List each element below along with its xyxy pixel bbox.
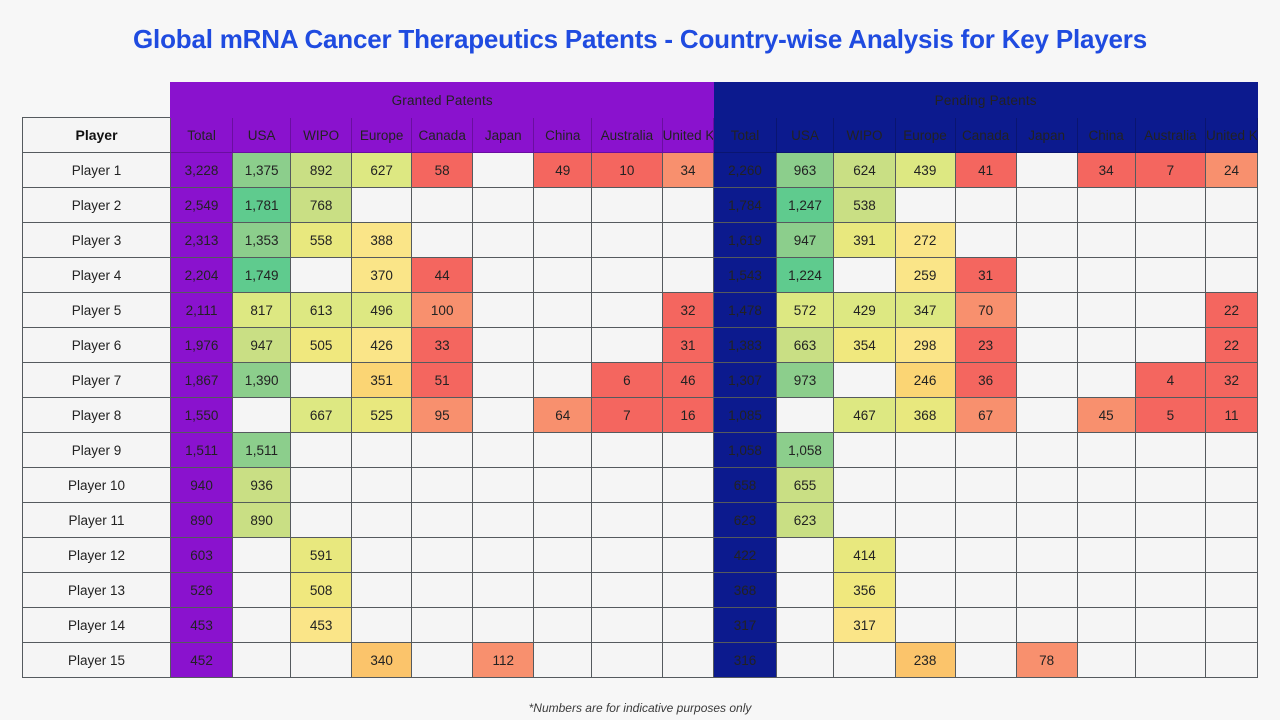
row-label-player: Player 4 — [23, 258, 171, 293]
column-header-pending-australia: Australia — [1135, 118, 1205, 153]
cell-granted-japan — [473, 468, 534, 503]
cell-pending-united-kingdom: 24 — [1206, 153, 1258, 188]
table-row: Player 91,5111,5111,0581,058 — [23, 433, 1258, 468]
cell-pending-japan — [1016, 293, 1077, 328]
cell-granted-wipo — [291, 258, 352, 293]
cell-granted-usa — [233, 608, 291, 643]
cell-pending-china — [1077, 503, 1135, 538]
cell-pending-japan — [1016, 608, 1077, 643]
cell-granted-total: 1,550 — [171, 398, 233, 433]
cell-pending-canada: 36 — [955, 363, 1016, 398]
cell-granted-australia — [592, 188, 662, 223]
column-header-pending-wipo: WIPO — [834, 118, 895, 153]
cell-pending-australia: 4 — [1135, 363, 1205, 398]
cell-granted-japan — [473, 363, 534, 398]
cell-granted-japan — [473, 573, 534, 608]
cell-granted-europe: 627 — [352, 153, 412, 188]
cell-granted-usa — [233, 538, 291, 573]
cell-granted-wipo: 892 — [291, 153, 352, 188]
cell-granted-united-kingdom — [662, 608, 714, 643]
cell-pending-europe: 298 — [895, 328, 955, 363]
cell-granted-usa — [233, 398, 291, 433]
cell-pending-japan — [1016, 328, 1077, 363]
cell-granted-canada: 44 — [412, 258, 473, 293]
cell-pending-wipo: 391 — [834, 223, 895, 258]
cell-pending-china — [1077, 608, 1135, 643]
cell-pending-australia: 7 — [1135, 153, 1205, 188]
cell-granted-united-kingdom: 46 — [662, 363, 714, 398]
cell-pending-canada — [955, 538, 1016, 573]
cell-pending-canada — [955, 573, 1016, 608]
cell-pending-usa — [776, 573, 834, 608]
cell-pending-australia — [1135, 328, 1205, 363]
cell-granted-usa: 1,781 — [233, 188, 291, 223]
cell-pending-canada: 70 — [955, 293, 1016, 328]
cell-granted-japan — [473, 223, 534, 258]
cell-pending-europe — [895, 538, 955, 573]
cell-granted-united-kingdom — [662, 468, 714, 503]
cell-pending-usa — [776, 538, 834, 573]
cell-pending-australia — [1135, 188, 1205, 223]
cell-granted-usa: 1,353 — [233, 223, 291, 258]
cell-granted-europe — [352, 608, 412, 643]
cell-granted-europe: 340 — [352, 643, 412, 678]
cell-granted-japan — [473, 188, 534, 223]
group-header-spacer — [23, 83, 171, 118]
cell-granted-china: 64 — [534, 398, 592, 433]
cell-granted-usa: 817 — [233, 293, 291, 328]
cell-granted-australia — [592, 468, 662, 503]
cell-pending-usa: 1,058 — [776, 433, 834, 468]
cell-granted-usa — [233, 573, 291, 608]
table-head: Granted PatentsPending Patents PlayerTot… — [23, 83, 1258, 153]
cell-pending-canada — [955, 608, 1016, 643]
cell-granted-china — [534, 573, 592, 608]
cell-granted-australia — [592, 223, 662, 258]
cell-pending-china: 45 — [1077, 398, 1135, 433]
cell-granted-usa — [233, 643, 291, 678]
cell-pending-australia — [1135, 293, 1205, 328]
cell-pending-usa: 947 — [776, 223, 834, 258]
cell-pending-australia — [1135, 223, 1205, 258]
cell-pending-usa: 1,224 — [776, 258, 834, 293]
table-row: Player 12603591422414 — [23, 538, 1258, 573]
cell-pending-australia — [1135, 643, 1205, 678]
cell-pending-wipo: 624 — [834, 153, 895, 188]
column-header-pending-total: Total — [714, 118, 776, 153]
cell-granted-united-kingdom: 34 — [662, 153, 714, 188]
row-label-player: Player 1 — [23, 153, 171, 188]
cell-granted-australia — [592, 573, 662, 608]
cell-pending-wipo: 354 — [834, 328, 895, 363]
cell-pending-europe — [895, 468, 955, 503]
cell-granted-wipo: 508 — [291, 573, 352, 608]
column-header-granted-usa: USA — [233, 118, 291, 153]
cell-granted-canada — [412, 223, 473, 258]
cell-granted-wipo: 768 — [291, 188, 352, 223]
group-header-pending: Pending Patents — [714, 83, 1258, 118]
cell-pending-japan — [1016, 258, 1077, 293]
cell-pending-total: 1,784 — [714, 188, 776, 223]
cell-granted-europe: 388 — [352, 223, 412, 258]
cell-granted-total: 2,549 — [171, 188, 233, 223]
column-header-pending-europe: Europe — [895, 118, 955, 153]
cell-granted-australia: 7 — [592, 398, 662, 433]
cell-pending-japan: 78 — [1016, 643, 1077, 678]
cell-granted-china — [534, 258, 592, 293]
cell-pending-usa: 973 — [776, 363, 834, 398]
cell-granted-japan — [473, 293, 534, 328]
patents-table-container: Granted PatentsPending Patents PlayerTot… — [22, 82, 1258, 678]
cell-granted-europe: 426 — [352, 328, 412, 363]
cell-granted-japan — [473, 328, 534, 363]
cell-pending-china — [1077, 538, 1135, 573]
cell-pending-usa — [776, 608, 834, 643]
cell-granted-united-kingdom: 32 — [662, 293, 714, 328]
cell-granted-europe — [352, 573, 412, 608]
cell-pending-china — [1077, 433, 1135, 468]
cell-granted-total: 2,204 — [171, 258, 233, 293]
cell-pending-china — [1077, 188, 1135, 223]
cell-pending-united-kingdom — [1206, 538, 1258, 573]
cell-granted-canada — [412, 538, 473, 573]
cell-granted-canada — [412, 608, 473, 643]
table-row: Player 1545234011231623878 — [23, 643, 1258, 678]
cell-pending-united-kingdom — [1206, 188, 1258, 223]
cell-pending-total: 368 — [714, 573, 776, 608]
cell-pending-australia: 5 — [1135, 398, 1205, 433]
cell-granted-japan — [473, 433, 534, 468]
cell-pending-japan — [1016, 468, 1077, 503]
table-row: Player 61,97694750542633311,383663354298… — [23, 328, 1258, 363]
cell-pending-total: 1,085 — [714, 398, 776, 433]
cell-pending-total: 1,307 — [714, 363, 776, 398]
cell-pending-china — [1077, 258, 1135, 293]
column-header-pending-china: China — [1077, 118, 1135, 153]
column-header-granted-japan: Japan — [473, 118, 534, 153]
cell-pending-united-kingdom: 11 — [1206, 398, 1258, 433]
table-row: Player 71,8671,390351516461,307973246364… — [23, 363, 1258, 398]
row-label-player: Player 15 — [23, 643, 171, 678]
cell-pending-canada — [955, 188, 1016, 223]
cell-granted-europe — [352, 538, 412, 573]
cell-granted-total: 890 — [171, 503, 233, 538]
cell-pending-japan — [1016, 398, 1077, 433]
cell-pending-canada: 23 — [955, 328, 1016, 363]
cell-granted-china — [534, 293, 592, 328]
cell-granted-united-kingdom — [662, 188, 714, 223]
cell-pending-japan — [1016, 503, 1077, 538]
cell-pending-europe — [895, 188, 955, 223]
cell-pending-europe: 439 — [895, 153, 955, 188]
column-header-row: PlayerTotalUSAWIPOEuropeCanadaJapanChina… — [23, 118, 1258, 153]
cell-granted-usa: 1,749 — [233, 258, 291, 293]
cell-granted-total: 3,228 — [171, 153, 233, 188]
cell-granted-australia — [592, 328, 662, 363]
cell-pending-usa: 663 — [776, 328, 834, 363]
cell-granted-australia — [592, 538, 662, 573]
cell-granted-china — [534, 468, 592, 503]
cell-pending-europe: 347 — [895, 293, 955, 328]
row-label-player: Player 3 — [23, 223, 171, 258]
cell-pending-china — [1077, 223, 1135, 258]
row-label-player: Player 10 — [23, 468, 171, 503]
cell-granted-wipo — [291, 433, 352, 468]
table-row: Player 14453453317317 — [23, 608, 1258, 643]
column-header-pending-canada: Canada — [955, 118, 1016, 153]
row-label-player: Player 7 — [23, 363, 171, 398]
row-label-player: Player 8 — [23, 398, 171, 433]
cell-granted-china: 49 — [534, 153, 592, 188]
table-row: Player 13,2281,375892627584910342,260963… — [23, 153, 1258, 188]
cell-pending-europe: 259 — [895, 258, 955, 293]
cell-granted-usa: 1,390 — [233, 363, 291, 398]
cell-pending-usa: 1,247 — [776, 188, 834, 223]
footnote: *Numbers are for indicative purposes onl… — [0, 701, 1280, 715]
cell-granted-australia — [592, 643, 662, 678]
cell-granted-europe — [352, 433, 412, 468]
table-row: Player 42,2041,749370441,5431,22425931 — [23, 258, 1258, 293]
cell-pending-total: 2,260 — [714, 153, 776, 188]
table-row: Player 52,111817613496100321,47857242934… — [23, 293, 1258, 328]
cell-pending-united-kingdom: 22 — [1206, 328, 1258, 363]
cell-granted-wipo: 613 — [291, 293, 352, 328]
cell-granted-canada — [412, 188, 473, 223]
cell-granted-united-kingdom — [662, 503, 714, 538]
cell-granted-europe: 351 — [352, 363, 412, 398]
cell-granted-canada — [412, 643, 473, 678]
cell-pending-china — [1077, 328, 1135, 363]
cell-granted-canada — [412, 468, 473, 503]
cell-pending-total: 316 — [714, 643, 776, 678]
cell-granted-usa: 1,511 — [233, 433, 291, 468]
cell-granted-united-kingdom — [662, 433, 714, 468]
cell-granted-wipo: 591 — [291, 538, 352, 573]
cell-pending-united-kingdom — [1206, 503, 1258, 538]
cell-granted-australia — [592, 258, 662, 293]
column-header-player: Player — [23, 118, 171, 153]
cell-pending-wipo — [834, 468, 895, 503]
cell-pending-australia — [1135, 608, 1205, 643]
cell-granted-europe: 496 — [352, 293, 412, 328]
cell-pending-japan — [1016, 188, 1077, 223]
cell-granted-japan — [473, 398, 534, 433]
cell-pending-china — [1077, 363, 1135, 398]
column-header-pending-japan: Japan — [1016, 118, 1077, 153]
cell-granted-united-kingdom — [662, 223, 714, 258]
cell-granted-china — [534, 363, 592, 398]
cell-granted-australia: 10 — [592, 153, 662, 188]
cell-pending-canada: 41 — [955, 153, 1016, 188]
cell-pending-total: 623 — [714, 503, 776, 538]
cell-granted-japan — [473, 503, 534, 538]
row-label-player: Player 14 — [23, 608, 171, 643]
row-label-player: Player 12 — [23, 538, 171, 573]
cell-granted-china — [534, 643, 592, 678]
cell-granted-wipo: 453 — [291, 608, 352, 643]
cell-granted-total: 603 — [171, 538, 233, 573]
cell-granted-total: 453 — [171, 608, 233, 643]
cell-pending-canada — [955, 503, 1016, 538]
cell-pending-china — [1077, 643, 1135, 678]
cell-pending-china: 34 — [1077, 153, 1135, 188]
cell-granted-united-kingdom: 31 — [662, 328, 714, 363]
cell-pending-wipo — [834, 363, 895, 398]
patents-heatmap-table: Granted PatentsPending Patents PlayerTot… — [22, 82, 1258, 678]
cell-pending-australia — [1135, 503, 1205, 538]
cell-granted-united-kingdom — [662, 258, 714, 293]
column-header-granted-united-kingdom: United Kingdom — [662, 118, 714, 153]
table-row: Player 13526508368356 — [23, 573, 1258, 608]
cell-granted-europe — [352, 188, 412, 223]
cell-granted-japan — [473, 608, 534, 643]
cell-pending-canada — [955, 643, 1016, 678]
cell-pending-canada — [955, 468, 1016, 503]
cell-granted-united-kingdom — [662, 573, 714, 608]
cell-granted-australia: 6 — [592, 363, 662, 398]
column-header-granted-wipo: WIPO — [291, 118, 352, 153]
cell-granted-japan — [473, 258, 534, 293]
cell-pending-europe: 368 — [895, 398, 955, 433]
cell-granted-total: 526 — [171, 573, 233, 608]
cell-pending-europe — [895, 433, 955, 468]
column-header-pending-united-kingdom: United Kingdom — [1206, 118, 1258, 153]
cell-granted-usa: 1,375 — [233, 153, 291, 188]
cell-pending-canada: 31 — [955, 258, 1016, 293]
group-header-granted: Granted Patents — [171, 83, 714, 118]
cell-pending-wipo: 467 — [834, 398, 895, 433]
cell-pending-australia — [1135, 573, 1205, 608]
cell-pending-total: 658 — [714, 468, 776, 503]
cell-granted-australia — [592, 503, 662, 538]
cell-pending-wipo — [834, 503, 895, 538]
cell-granted-wipo: 667 — [291, 398, 352, 433]
cell-granted-total: 1,976 — [171, 328, 233, 363]
cell-granted-canada — [412, 503, 473, 538]
patents-heatmap-page: Global mRNA Cancer Therapeutics Patents … — [0, 0, 1280, 720]
cell-granted-usa: 890 — [233, 503, 291, 538]
cell-granted-canada — [412, 433, 473, 468]
cell-granted-total: 940 — [171, 468, 233, 503]
cell-pending-japan — [1016, 573, 1077, 608]
row-label-player: Player 5 — [23, 293, 171, 328]
cell-granted-china — [534, 188, 592, 223]
cell-pending-australia — [1135, 538, 1205, 573]
row-label-player: Player 13 — [23, 573, 171, 608]
cell-pending-japan — [1016, 223, 1077, 258]
cell-granted-japan — [473, 538, 534, 573]
cell-granted-china — [534, 608, 592, 643]
cell-pending-australia — [1135, 433, 1205, 468]
cell-pending-canada — [955, 223, 1016, 258]
cell-granted-europe — [352, 468, 412, 503]
cell-pending-europe — [895, 608, 955, 643]
cell-granted-japan — [473, 153, 534, 188]
cell-granted-europe: 370 — [352, 258, 412, 293]
column-header-pending-usa: USA — [776, 118, 834, 153]
cell-pending-wipo: 429 — [834, 293, 895, 328]
row-label-player: Player 11 — [23, 503, 171, 538]
cell-pending-canada — [955, 433, 1016, 468]
cell-pending-usa — [776, 398, 834, 433]
cell-pending-china — [1077, 293, 1135, 328]
cell-pending-japan — [1016, 433, 1077, 468]
cell-pending-total: 422 — [714, 538, 776, 573]
cell-granted-total: 452 — [171, 643, 233, 678]
cell-granted-usa: 936 — [233, 468, 291, 503]
cell-pending-total: 1,058 — [714, 433, 776, 468]
table-row: Player 81,55066752595647161,085467368674… — [23, 398, 1258, 433]
cell-granted-wipo — [291, 643, 352, 678]
cell-pending-wipo — [834, 433, 895, 468]
cell-pending-united-kingdom — [1206, 573, 1258, 608]
table-row: Player 10940936658655 — [23, 468, 1258, 503]
cell-pending-china — [1077, 573, 1135, 608]
cell-granted-usa: 947 — [233, 328, 291, 363]
cell-granted-united-kingdom — [662, 643, 714, 678]
cell-pending-europe: 246 — [895, 363, 955, 398]
cell-granted-china — [534, 503, 592, 538]
cell-granted-china — [534, 433, 592, 468]
cell-pending-total: 1,383 — [714, 328, 776, 363]
cell-pending-wipo: 538 — [834, 188, 895, 223]
cell-granted-europe: 525 — [352, 398, 412, 433]
cell-pending-united-kingdom — [1206, 608, 1258, 643]
row-label-player: Player 6 — [23, 328, 171, 363]
cell-pending-total: 1,478 — [714, 293, 776, 328]
table-row: Player 32,3131,3535583881,619947391272 — [23, 223, 1258, 258]
page-title: Global mRNA Cancer Therapeutics Patents … — [0, 24, 1280, 55]
cell-granted-wipo: 505 — [291, 328, 352, 363]
cell-pending-total: 1,619 — [714, 223, 776, 258]
cell-granted-europe — [352, 503, 412, 538]
cell-granted-total: 2,111 — [171, 293, 233, 328]
cell-granted-united-kingdom: 16 — [662, 398, 714, 433]
cell-granted-australia — [592, 433, 662, 468]
cell-granted-canada: 95 — [412, 398, 473, 433]
column-header-granted-australia: Australia — [592, 118, 662, 153]
cell-pending-wipo — [834, 643, 895, 678]
cell-pending-united-kingdom: 22 — [1206, 293, 1258, 328]
cell-pending-wipo: 356 — [834, 573, 895, 608]
cell-granted-total: 2,313 — [171, 223, 233, 258]
cell-pending-total: 1,543 — [714, 258, 776, 293]
column-header-granted-europe: Europe — [352, 118, 412, 153]
cell-granted-china — [534, 328, 592, 363]
cell-pending-united-kingdom — [1206, 258, 1258, 293]
table-row: Player 22,5491,7817681,7841,247538 — [23, 188, 1258, 223]
cell-granted-australia — [592, 608, 662, 643]
row-label-player: Player 2 — [23, 188, 171, 223]
column-header-granted-total: Total — [171, 118, 233, 153]
cell-pending-wipo: 414 — [834, 538, 895, 573]
cell-pending-europe — [895, 503, 955, 538]
cell-granted-canada: 58 — [412, 153, 473, 188]
cell-granted-united-kingdom — [662, 538, 714, 573]
cell-pending-usa — [776, 643, 834, 678]
cell-pending-japan — [1016, 153, 1077, 188]
cell-pending-wipo: 317 — [834, 608, 895, 643]
cell-pending-wipo — [834, 258, 895, 293]
cell-granted-total: 1,511 — [171, 433, 233, 468]
cell-pending-united-kingdom — [1206, 223, 1258, 258]
cell-pending-japan — [1016, 538, 1077, 573]
cell-granted-wipo — [291, 363, 352, 398]
column-header-granted-canada: Canada — [412, 118, 473, 153]
cell-granted-china — [534, 223, 592, 258]
table-row: Player 11890890623623 — [23, 503, 1258, 538]
cell-granted-wipo: 558 — [291, 223, 352, 258]
